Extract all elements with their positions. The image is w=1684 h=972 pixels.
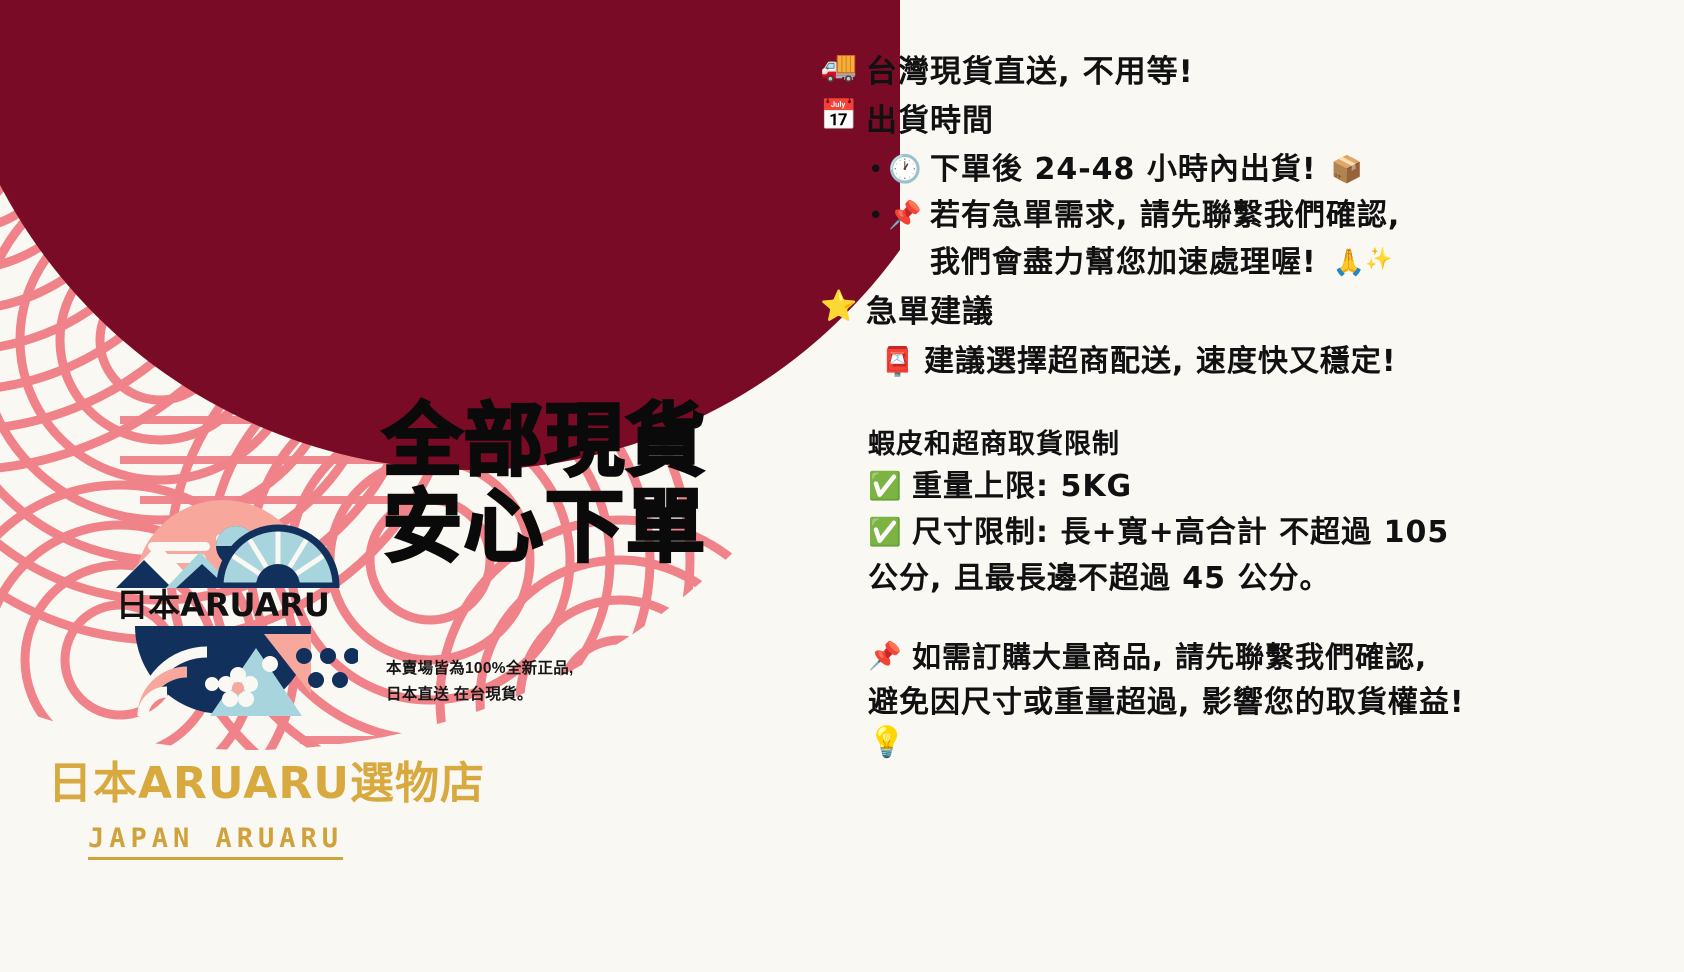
direct-shipping-heading: 🚚 台灣現貨直送, 不用等! (820, 52, 1660, 92)
bulk-order-row: 📌 如需訂購大量商品, 請先聯繫我們確認, (820, 635, 1660, 679)
bulk-order-continuation: 避免因尺寸或重量超過, 影響您的取貨權益! (820, 681, 1660, 725)
shop-banner: 日本ARUARU (0, 0, 1684, 972)
size-limit-text: 尺寸限制: 長+寬+高合計 不超過 105 (912, 511, 1449, 555)
rush-tip-detail: 📮 建議選擇超商配送, 速度快又穩定! (820, 341, 1660, 383)
disclaimer-line-2: 日本直送 在台現貨。 (386, 682, 574, 708)
light-bulb-icon: 💡 (820, 725, 1660, 761)
rush-tip-text: 急單建議 (866, 292, 994, 332)
disclaimer-line-1: 本賣場皆為100%全新正品, (386, 656, 574, 682)
ship-hours-bullet: • 🕐 下單後 24-48 小時內出貨! 📦 (820, 150, 1660, 190)
check-mark-button-icon: ✅ (868, 511, 912, 555)
ship-time-heading: 📅 出貨時間 (820, 101, 1660, 141)
size-limit-cont-text: 公分, 且最長邊不超過 45 公分。 (868, 557, 1330, 601)
clock-icon: 🕐 (888, 150, 930, 190)
pushpin-icon: 📌 (888, 196, 930, 236)
size-limit-continuation: 公分, 且最長邊不超過 45 公分。 (820, 557, 1660, 601)
star-icon: ⭐ (820, 292, 866, 322)
calendar-icon: 📅 (820, 101, 866, 131)
pickup-limits-title: 蝦皮和超商取貨限制 (868, 425, 1120, 465)
headline: 全部現貨 安心下單 (383, 398, 783, 570)
size-limit-row: ✅ 尺寸限制: 長+寬+高合計 不超過 105 (820, 511, 1660, 555)
bulk-order-cont-text: 避免因尺寸或重量超過, 影響您的取貨權益! (868, 681, 1465, 725)
rush-order-continuation: 我們會盡力幫您加速處理喔! 🙏 ✨ (820, 242, 1660, 284)
weight-limit-row: ✅ 重量上限: 5KG (820, 465, 1660, 509)
authenticity-disclaimer: 本賣場皆為100%全新正品, 日本直送 在台現貨。 (386, 656, 574, 708)
bullet-marker: • (868, 196, 888, 236)
delivery-truck-icon: 🚚 (820, 52, 866, 82)
sparkles-icon: ✨ (1365, 242, 1392, 278)
package-icon: 📦 (1331, 150, 1363, 190)
brand-name-block: 日本ARUARU選物店 JAPAN ARUARU (48, 757, 518, 860)
rush-tip-heading: ⭐ 急單建議 (820, 292, 1660, 332)
rush-tip-detail-text: 建議選擇超商配送, 速度快又穩定! (924, 341, 1397, 383)
rush-order-text: 若有急單需求, 請先聯繫我們確認, (930, 196, 1400, 236)
bulk-order-text: 如需訂購大量商品, 請先聯繫我們確認, (912, 635, 1427, 679)
ship-time-text: 出貨時間 (866, 101, 994, 141)
direct-shipping-text: 台灣現貨直送, 不用等! (866, 52, 1194, 92)
pickup-limits-title-row: 蝦皮和超商取貨限制 (820, 425, 1660, 465)
weight-limit-text: 重量上限: 5KG (912, 465, 1132, 509)
headline-line-1: 全部現貨 (383, 398, 783, 484)
ship-hours-text: 下單後 24-48 小時內出貨! (930, 150, 1317, 190)
rush-order-bullet: • 📌 若有急單需求, 請先聯繫我們確認, (820, 196, 1660, 236)
shipping-info-panel: 🚚 台灣現貨直送, 不用等! 📅 出貨時間 • 🕐 下單後 24-48 小時內出… (820, 52, 1660, 761)
brand-name-en: JAPAN ARUARU (88, 823, 343, 860)
folded-hands-icon: 🙏 (1333, 242, 1365, 284)
bullet-marker: • (868, 150, 888, 190)
headline-line-2: 安心下單 (383, 484, 783, 570)
pushpin-icon: 📌 (868, 635, 912, 679)
shop-logo: 日本ARUARU (88, 498, 358, 716)
logo-wordmark: 日本ARUARU (116, 586, 330, 624)
brand-name-cn: 日本ARUARU選物店 (48, 757, 518, 811)
postbox-icon: 📮 (880, 341, 924, 383)
check-mark-button-icon: ✅ (868, 465, 912, 509)
rush-order-cont-text: 我們會盡力幫您加速處理喔! (930, 242, 1317, 284)
